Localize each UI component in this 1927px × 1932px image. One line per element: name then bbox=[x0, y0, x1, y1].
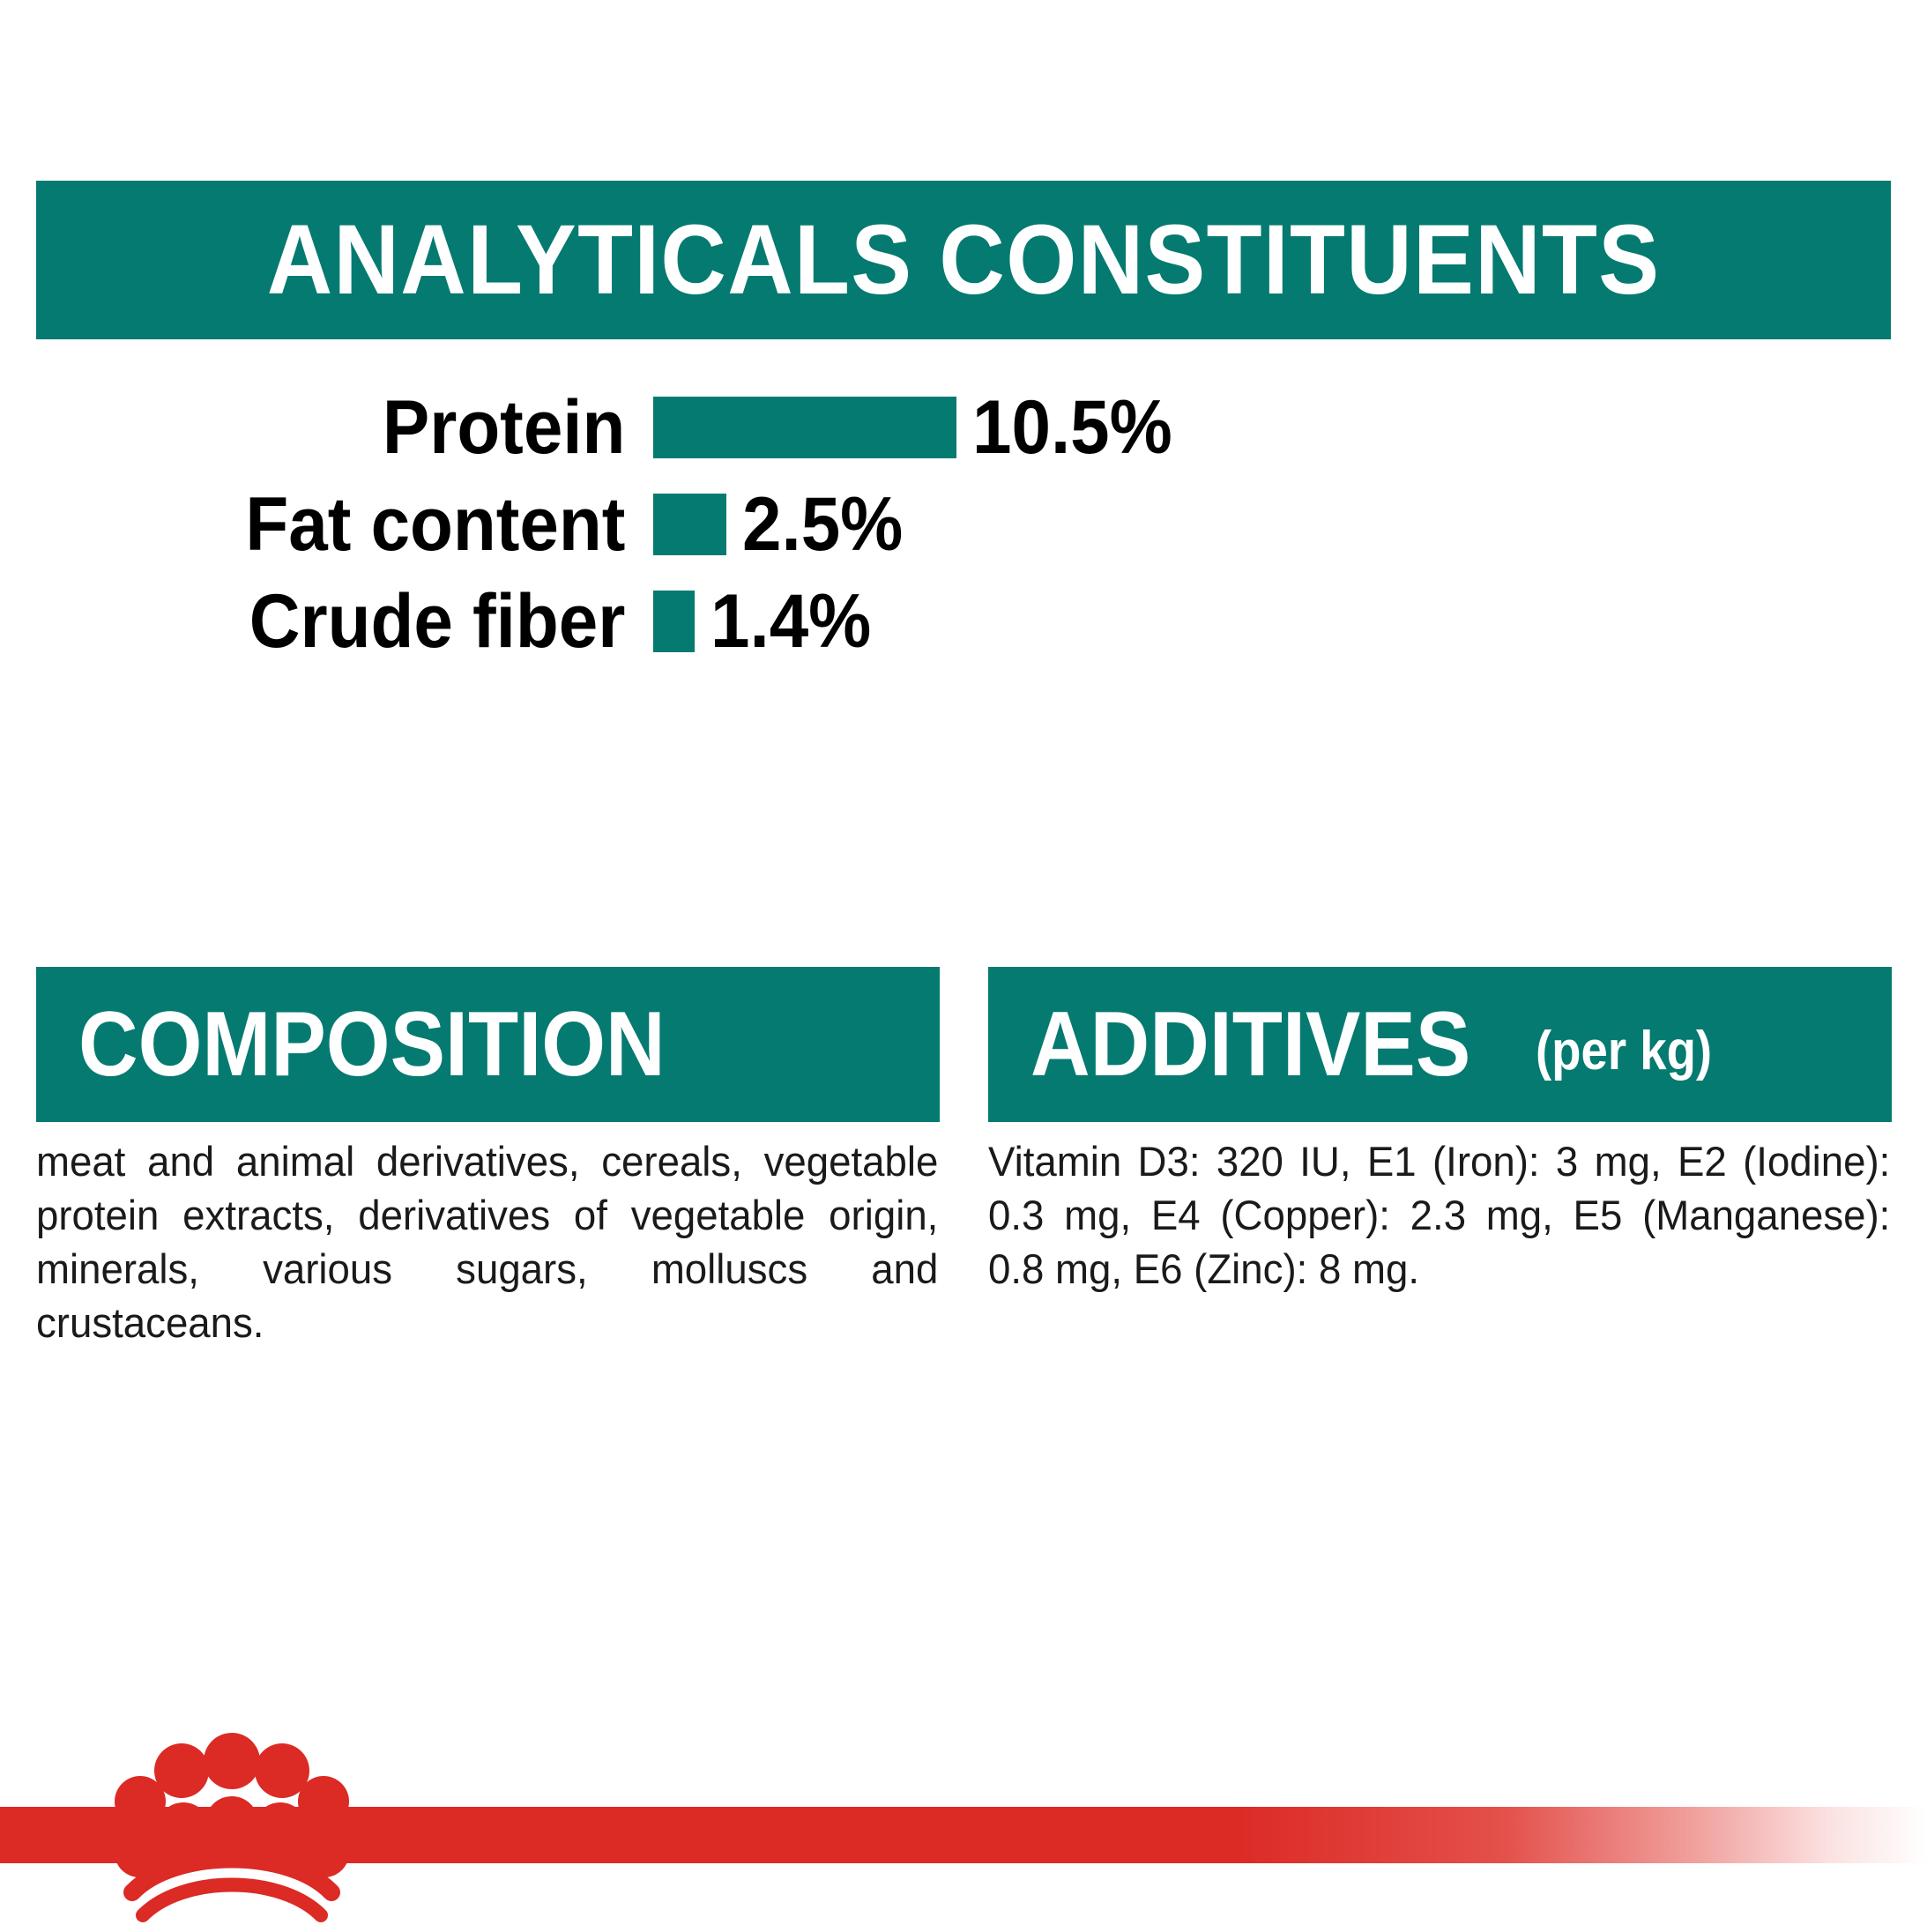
product-info-panel: ANALYTICALS CONSTITUENTS Protein 10.5% F… bbox=[0, 0, 1927, 1927]
footer bbox=[0, 1719, 1927, 1927]
chart-value-crude-fiber: 1.4% bbox=[711, 583, 871, 659]
analytical-constituents-banner: ANALYTICALS CONSTITUENTS bbox=[36, 181, 1891, 339]
chart-bar-protein bbox=[653, 397, 956, 458]
chart-value-protein: 10.5% bbox=[972, 390, 1172, 465]
composition-banner: COMPOSITION bbox=[36, 967, 940, 1122]
chart-row-protein: Protein 10.5% bbox=[36, 379, 1891, 476]
additives-column: ADDITIVES (per kg) Vitamin D3: 320 IU, E… bbox=[988, 967, 1892, 1349]
chart-label-crude-fiber: Crude fiber bbox=[79, 583, 653, 659]
chart-bar-crude-fiber bbox=[653, 591, 695, 652]
royal-canin-crown-logo bbox=[113, 1720, 351, 1928]
chart-value-fat-content: 2.5% bbox=[742, 487, 903, 562]
crown-arc-inner bbox=[143, 1885, 321, 1916]
crown-icon bbox=[113, 1720, 351, 1928]
additives-subheading: (per kg) bbox=[1536, 1024, 1712, 1079]
chart-label-protein: Protein bbox=[79, 390, 653, 465]
chart-bar-fat-content bbox=[653, 494, 726, 555]
additives-banner: ADDITIVES (per kg) bbox=[988, 967, 1892, 1122]
analytical-constituents-chart: Protein 10.5% Fat content 2.5% Crude fib… bbox=[36, 379, 1891, 670]
additives-heading: ADDITIVES bbox=[1030, 999, 1470, 1090]
chart-label-fat-content: Fat content bbox=[79, 487, 653, 562]
composition-heading: COMPOSITION bbox=[78, 999, 666, 1090]
additives-text: Vitamin D3: 320 IU, E1 (Iron): 3 mg, E2 … bbox=[988, 1134, 1890, 1296]
composition-text: meat and animal derivatives, cereals, ve… bbox=[36, 1134, 938, 1349]
chart-row-crude-fiber: Crude fiber 1.4% bbox=[36, 573, 1891, 670]
chart-row-fat-content: Fat content 2.5% bbox=[36, 476, 1891, 573]
composition-column: COMPOSITION meat and animal derivatives,… bbox=[36, 967, 940, 1349]
info-columns: COMPOSITION meat and animal derivatives,… bbox=[36, 967, 1891, 1349]
page-title: ANALYTICALS CONSTITUENTS bbox=[267, 211, 1661, 309]
